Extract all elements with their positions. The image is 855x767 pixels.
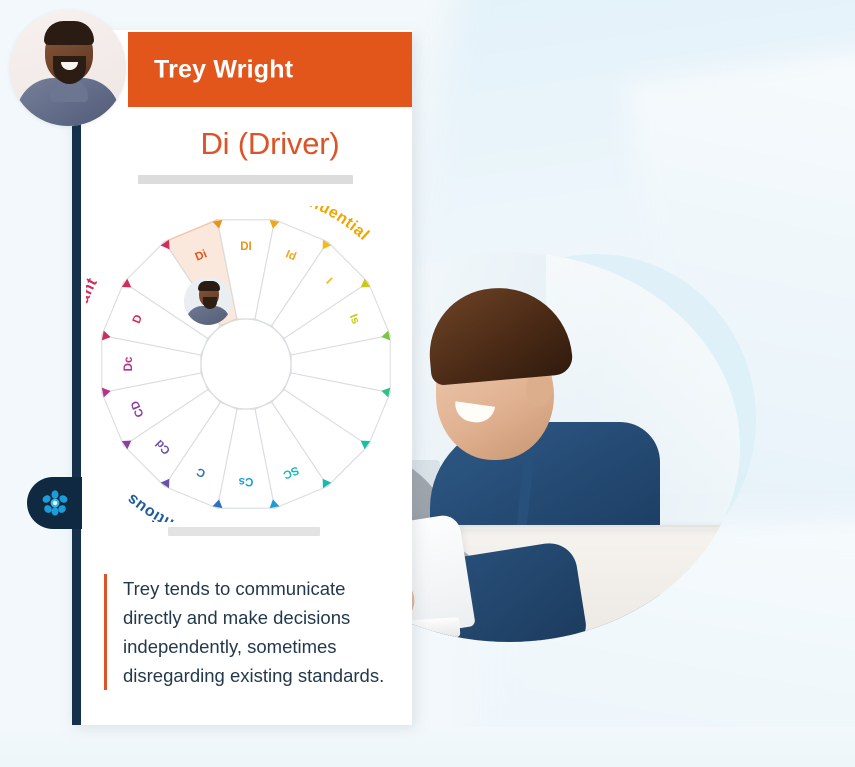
card-header-band: Trey Wright [128,32,412,107]
placeholder-bar-bottom [168,527,320,536]
avatar-hair [44,21,94,45]
background-bottom-band [0,727,855,767]
person-name: Trey Wright [154,55,293,84]
wheel-avatar-hair [198,281,220,291]
wheel-inner-hub [201,319,291,409]
wheel-segment-label-DI: DI [240,241,252,253]
avatar [10,10,126,126]
wheel-segment-label-Dc: Dc [123,356,135,371]
placeholder-bar-top [138,175,353,184]
disc-style-wheel: DiDIIdIIsSCCsCCdCDDcD DominantInfluentia… [86,206,406,522]
flower-logo-icon [42,490,68,516]
insight-quote-text: Trey tends to communicate directly and m… [123,574,404,690]
person-style-title: Di (Driver) [128,126,412,162]
brand-badge-tab[interactable] [27,477,82,529]
wheel-segment-label-Cs: Cs [239,475,254,487]
wheel-position-marker-avatar [184,277,232,325]
card-left-spine [72,84,81,725]
wheel-quadrant-label-dominant: Dominant [86,275,101,356]
insight-quote: Trey tends to communicate directly and m… [104,574,404,690]
promo-graphic-canvas: Trey Wright Di (Driver) DiDIIdIIsSCCsCCd… [0,0,855,767]
disc-wheel-svg: DiDIIdIIsSCCsCCdCDDcD DominantInfluentia… [86,206,406,522]
